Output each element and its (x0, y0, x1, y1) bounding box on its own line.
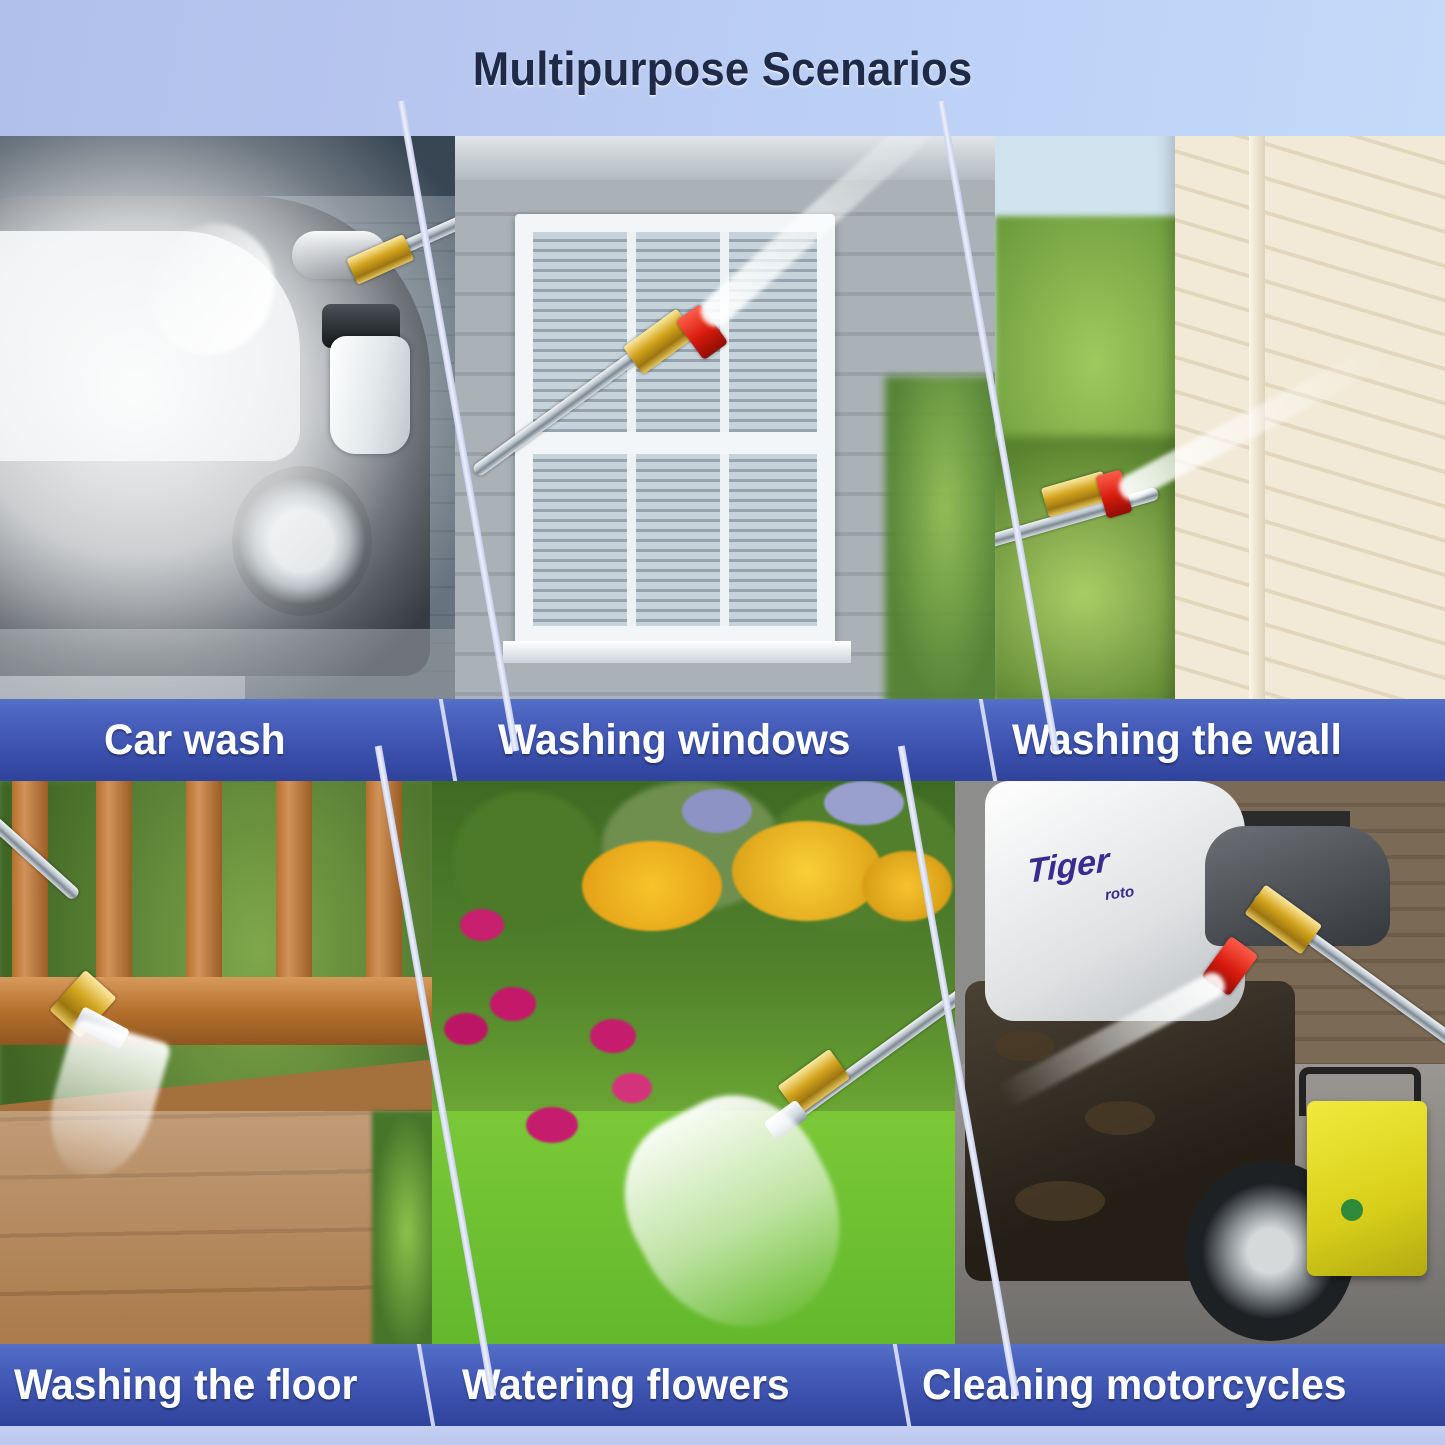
yellow-flower-cluster (862, 851, 952, 921)
window-blinds (533, 232, 817, 626)
magenta-flower (460, 909, 504, 941)
window-frame (515, 214, 835, 644)
purple-leaf (824, 781, 904, 825)
caption-divider-3 (414, 1344, 437, 1426)
window-mullion-left (627, 232, 636, 626)
scene-cleaning-motorcycles: Tiger roto (955, 781, 1445, 1344)
caption-watering-flowers: Watering flowers (462, 1344, 790, 1426)
foam-bottle (330, 336, 410, 454)
panel-washing-windows[interactable] (455, 136, 995, 699)
house-wall-siding (1175, 136, 1445, 699)
magenta-flower (444, 1013, 488, 1045)
caption-divider-2 (976, 699, 999, 781)
magenta-flower (490, 987, 536, 1021)
purple-leaf (682, 789, 752, 833)
scene-watering-flowers (432, 781, 955, 1344)
panel-watering-flowers[interactable] (432, 781, 955, 1344)
scene-washing-the-floor (0, 781, 432, 1344)
mud-splatter (1015, 1181, 1105, 1221)
magenta-flower (526, 1107, 578, 1143)
mud-splatter (995, 1031, 1055, 1061)
hedge (372, 1111, 432, 1344)
scenario-row-top: Car wash Washing windows Washing the wal… (0, 136, 1445, 781)
panel-car-wash[interactable] (0, 136, 455, 699)
yellow-flower-cluster (582, 841, 722, 931)
scenario-grid: Car wash Washing windows Washing the wal… (0, 136, 1445, 1426)
magenta-flower (612, 1073, 652, 1103)
caption-bar-top: Car wash Washing windows Washing the wal… (0, 699, 1445, 781)
caption-bar-bottom: Washing the floor Watering flowers Clean… (0, 1344, 1445, 1426)
scene-car-wash (0, 136, 455, 699)
scene-washing-windows (455, 136, 995, 699)
pressure-washer-unit (1307, 1101, 1427, 1276)
caption-divider-4 (890, 1344, 913, 1426)
panel-washing-the-floor[interactable] (0, 781, 432, 1344)
mud-splatter (1085, 1101, 1155, 1135)
infographic-page: Multipurpose Scenarios (0, 0, 1445, 1445)
caption-cleaning-motorcycles: Cleaning motorcycles (922, 1344, 1347, 1426)
scenario-row-bottom: Tiger roto Washing the floor Wate (0, 781, 1445, 1426)
caption-car-wash: Car wash (104, 699, 286, 781)
yellow-flower-cluster (732, 821, 882, 921)
window-sill (503, 641, 851, 663)
caption-divider-1 (436, 699, 459, 781)
background-tree (885, 376, 995, 699)
window-meeting-rail (533, 432, 817, 454)
bottom-strip (0, 1426, 1445, 1445)
caption-washing-the-floor: Washing the floor (14, 1344, 357, 1426)
panel-washing-the-wall[interactable] (995, 136, 1445, 699)
scene-washing-the-wall (995, 136, 1445, 699)
panel-cleaning-motorcycles[interactable]: Tiger roto (955, 781, 1445, 1344)
caption-washing-the-wall: Washing the wall (1012, 699, 1342, 781)
page-title: Multipurpose Scenarios (473, 41, 973, 96)
pressure-washer-dial (1341, 1199, 1363, 1221)
header-banner: Multipurpose Scenarios (0, 0, 1445, 136)
magenta-flower (590, 1019, 636, 1053)
caption-washing-windows: Washing windows (498, 699, 851, 781)
